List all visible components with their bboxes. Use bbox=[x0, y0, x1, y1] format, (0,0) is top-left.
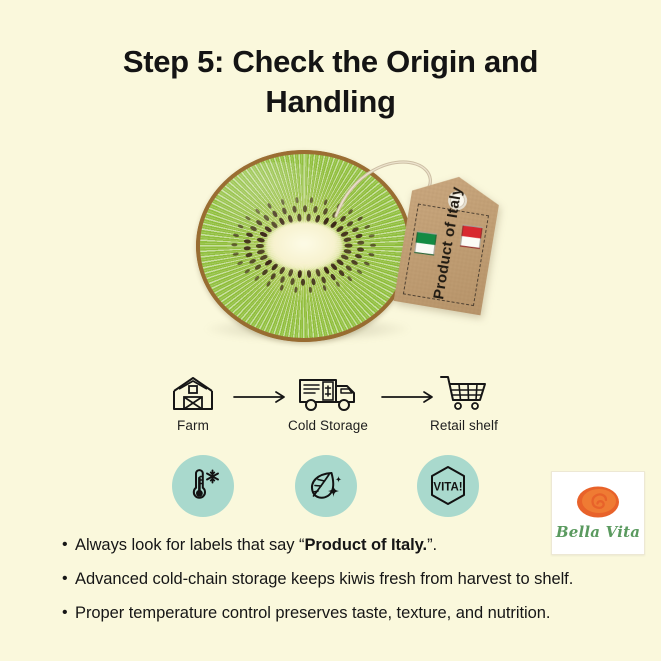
kiwi-seed bbox=[231, 243, 237, 246]
kiwi-seed bbox=[350, 260, 358, 267]
kiwi-gloss bbox=[217, 162, 341, 245]
kiwi-seed bbox=[336, 259, 345, 267]
kiwi-seed bbox=[370, 244, 376, 247]
orange-swirl-icon bbox=[575, 485, 621, 521]
bullet-text-before: Always look for labels that say “ bbox=[75, 536, 304, 554]
thermometer-snowflake-icon bbox=[184, 467, 222, 505]
vita-label: VITA! bbox=[433, 482, 462, 494]
kiwi-seed bbox=[311, 278, 316, 286]
barn-icon bbox=[143, 372, 243, 414]
kiwi-seed bbox=[346, 276, 353, 283]
kiwi-seed bbox=[232, 252, 239, 257]
flow-label-retail-shelf: Retail shelf bbox=[404, 418, 524, 433]
list-item: • Always look for labels that say “Produ… bbox=[62, 536, 607, 556]
kiwi-seed bbox=[294, 287, 298, 293]
bullet-text-before: Proper temperature control preserves tas… bbox=[75, 604, 550, 622]
bullet-text: Advanced cold-chain storage keeps kiwis … bbox=[75, 570, 607, 590]
shopping-cart-icon bbox=[404, 372, 524, 414]
list-item: • Advanced cold-chain storage keeps kiwi… bbox=[62, 570, 607, 590]
italy-flag-green-icon bbox=[414, 231, 437, 255]
kiwi-seed bbox=[330, 263, 338, 272]
kiwi-seed bbox=[323, 267, 331, 276]
kiwi-seed bbox=[315, 269, 322, 278]
kiwi-seed bbox=[330, 274, 337, 282]
kiwi-seed bbox=[256, 244, 264, 248]
kiwi-seed bbox=[254, 264, 262, 271]
kiwi-seed bbox=[278, 267, 286, 276]
bullet-text-bold: Product of Italy. bbox=[304, 536, 427, 554]
list-item: • Proper temperature control preserves t… bbox=[62, 604, 607, 624]
page-title: Step 5: Check the Origin and Handling bbox=[60, 42, 601, 121]
flow-label-cold-storage: Cold Storage bbox=[266, 418, 390, 433]
kiwi-seed bbox=[287, 269, 294, 278]
hero-illustration: Product of Italy bbox=[0, 148, 661, 358]
hexagon-vita-icon: VITA! bbox=[426, 464, 470, 508]
badge-freshness bbox=[295, 455, 357, 517]
kiwi-seed bbox=[345, 244, 353, 248]
kiwi-seed bbox=[308, 287, 312, 293]
kiwi-seed bbox=[335, 281, 341, 288]
kiwi-seed bbox=[338, 270, 346, 278]
kiwi-seed bbox=[244, 268, 251, 274]
kiwi-seed bbox=[364, 225, 371, 230]
kiwi-seed bbox=[357, 248, 364, 253]
bullet-marker: • bbox=[62, 570, 75, 588]
flow-step-farm: Farm bbox=[143, 372, 243, 433]
bullet-marker: • bbox=[62, 604, 75, 622]
flow-label-farm: Farm bbox=[143, 418, 243, 433]
kiwi-seed bbox=[321, 277, 327, 285]
kiwi-seed bbox=[297, 271, 302, 279]
leaf-sparkle-icon bbox=[307, 467, 345, 505]
bullet-list: • Always look for labels that say “Produ… bbox=[62, 536, 607, 637]
infographic-canvas: Step 5: Check the Origin and Handling bbox=[0, 0, 661, 661]
kiwi-seed bbox=[306, 271, 311, 279]
bullet-text: Always look for labels that say “Product… bbox=[75, 536, 607, 556]
kiwi-seed bbox=[279, 285, 284, 292]
kiwi-seed bbox=[245, 253, 253, 259]
kiwi-seed bbox=[301, 279, 305, 286]
badge-vita: VITA! bbox=[417, 455, 479, 517]
bullet-text-after: ”. bbox=[427, 536, 437, 554]
kiwi-seed bbox=[265, 281, 271, 288]
kiwi-seed bbox=[237, 261, 244, 266]
kiwi-seed bbox=[368, 253, 375, 258]
kiwi-seed bbox=[355, 234, 363, 240]
bullet-marker: • bbox=[62, 536, 75, 554]
kiwi-seed bbox=[279, 276, 285, 284]
flow-step-cold-storage: Cold Storage bbox=[266, 372, 390, 433]
kiwi-seed bbox=[345, 265, 353, 272]
supply-chain-flow: Farm Cold Storage bbox=[0, 372, 661, 440]
kiwi-seed bbox=[357, 241, 364, 246]
badge-cold-chain bbox=[172, 455, 234, 517]
italy-flag-red-icon bbox=[460, 225, 483, 249]
kiwi-seed bbox=[344, 237, 352, 243]
kiwi-seed bbox=[244, 240, 251, 245]
kiwi-seed bbox=[363, 261, 370, 267]
kiwi-seed bbox=[351, 227, 359, 234]
kiwi-seed bbox=[290, 278, 295, 286]
bullet-text-before: Advanced cold-chain storage keeps kiwis … bbox=[75, 570, 573, 588]
kiwi-seed bbox=[261, 269, 269, 277]
kiwi-seed bbox=[249, 258, 257, 265]
kiwi-seed bbox=[356, 269, 363, 275]
kiwi-seed bbox=[322, 285, 327, 292]
refrigerated-truck-icon bbox=[266, 372, 390, 414]
kiwi-seed bbox=[244, 246, 251, 251]
bullet-text: Proper temperature control preserves tas… bbox=[75, 604, 607, 624]
kiwi-seed bbox=[355, 254, 363, 260]
kiwi-seed bbox=[270, 263, 278, 272]
kiwi-seed bbox=[253, 275, 260, 282]
flow-step-retail-shelf: Retail shelf bbox=[404, 372, 524, 433]
kiwi-seed bbox=[368, 234, 375, 239]
kiwi-seed bbox=[270, 273, 277, 281]
